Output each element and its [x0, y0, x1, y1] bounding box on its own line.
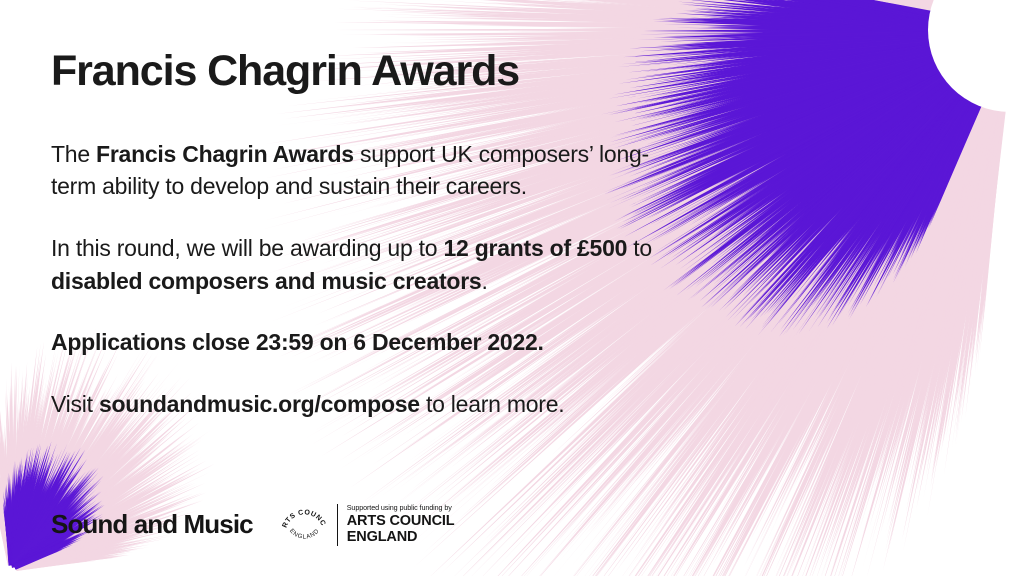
text-run-regular: . [481, 268, 487, 294]
paragraph-intro: The Francis Chagrin Awards support UK co… [51, 138, 691, 203]
funding-statement: Supported using public funding by [347, 503, 455, 512]
text-run-regular: Visit [51, 391, 99, 417]
paragraph-grants: In this round, we will be awarding up to… [51, 232, 691, 297]
text-run-regular: to learn more. [420, 391, 565, 417]
paragraph-visit: Visit soundandmusic.org/compose to learn… [51, 388, 691, 421]
text-run-bold: Francis Chagrin Awards [96, 141, 354, 167]
body-copy: The Francis Chagrin Awards support UK co… [51, 138, 691, 421]
footer-logos: Sound and Music ARTS COUNCIL ENGLAND [51, 501, 455, 548]
sound-and-music-wordmark: Sound and Music [51, 509, 253, 540]
content-area: Francis Chagrin Awards The Francis Chagr… [0, 0, 1024, 576]
text-run-regular: to [627, 235, 652, 261]
logo-divider [337, 504, 338, 546]
paragraph-deadline: Applications close 23:59 on 6 December 2… [51, 326, 691, 359]
text-run-bold: disabled composers and music creators [51, 268, 481, 294]
text-run-bold: Applications close 23:59 on 6 December 2… [51, 329, 544, 355]
text-run-bold: soundandmusic.org/compose [99, 391, 420, 417]
text-run-bold: 12 grants of £500 [443, 235, 627, 261]
text-run-regular: In this round, we will be awarding up to [51, 235, 443, 261]
arts-council-lockup-text: Supported using public funding by ARTS C… [347, 503, 455, 545]
arts-council-roundel-icon: ARTS COUNCIL ENGLAND [281, 501, 328, 548]
poster-canvas: Francis Chagrin Awards The Francis Chagr… [0, 0, 1024, 576]
svg-text:ARTS COUNCIL: ARTS COUNCIL [281, 501, 327, 529]
text-run-regular: The [51, 141, 96, 167]
svg-text:ENGLAND: ENGLAND [288, 527, 321, 540]
page-title: Francis Chagrin Awards [51, 49, 1024, 94]
arts-council-england-logo: ARTS COUNCIL ENGLAND Supported using pub… [281, 501, 455, 548]
arts-council-england-name: ARTS COUNCIL ENGLAND [347, 514, 455, 545]
